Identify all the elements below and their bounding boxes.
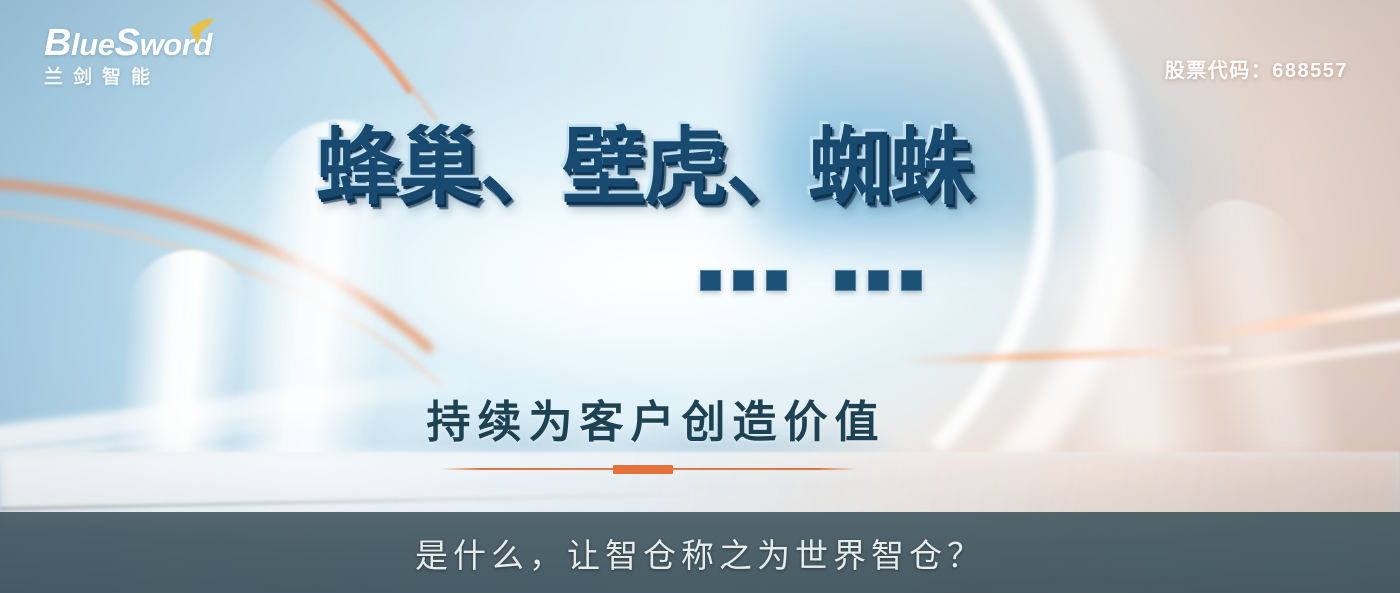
stock-code-label: 股票代码：688557: [1165, 54, 1348, 83]
wordmark-cap-s: S: [115, 22, 140, 64]
brand-wordmark: BlueSword: [44, 24, 274, 62]
slogan-text: 持续为客户创造价值: [0, 398, 1356, 449]
ellipsis-group-1: [700, 270, 787, 291]
ellipsis-square: [766, 270, 787, 291]
ellipsis-square: [733, 270, 754, 291]
ellipsis-group-2: [835, 270, 922, 291]
ellipsis-square: [868, 270, 889, 291]
divider-accent-block: [613, 465, 673, 474]
wordmark-lue: lue: [71, 27, 115, 62]
subtitle-text: 是什么，让智仓称之为世界智仓？: [415, 529, 985, 577]
wordmark-cap-b: B: [44, 22, 71, 64]
subtitle-bar: 是什么，让智仓称之为世界智仓？: [0, 512, 1400, 593]
ellipsis-square: [835, 270, 856, 291]
subtitle-bar-inner: 是什么，让智仓称之为世界智仓？: [0, 512, 1400, 593]
slogan-divider: [440, 465, 858, 474]
ellipsis-square: [901, 270, 922, 291]
swoosh-hook-icon: [186, 16, 218, 46]
ellipsis-square: [700, 270, 721, 291]
brand-logo: BlueSword 兰剑智能: [44, 24, 274, 98]
brand-name-cn: 兰剑智能: [44, 68, 274, 87]
headline-title: 蜂巢、壁虎、蜘蛛: [0, 125, 1344, 209]
video-frame: BlueSword 兰剑智能 股票代码：688557 蜂巢、壁虎、蜘蛛 持续为客…: [0, 0, 1400, 593]
ellipsis-blocks: [700, 270, 922, 291]
